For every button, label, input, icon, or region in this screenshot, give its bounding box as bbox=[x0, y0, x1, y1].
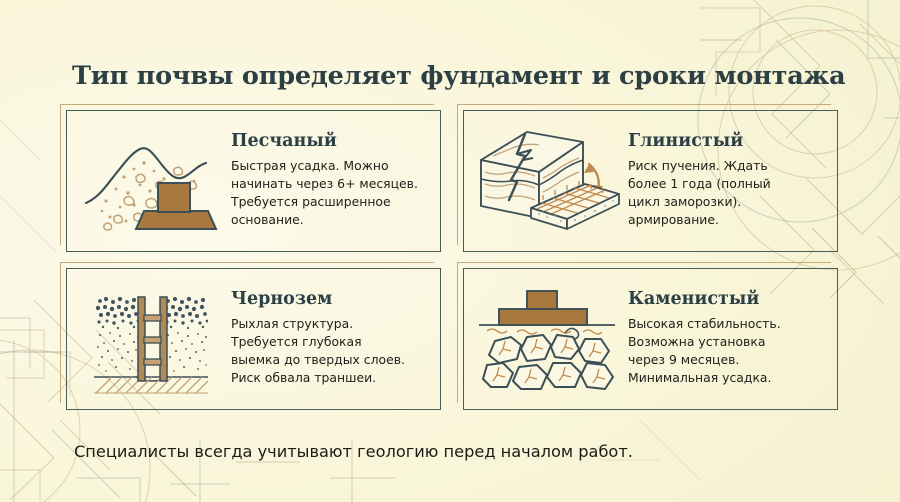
soil-card-clay-body: Риск пучения. Ждать более 1 года (полный… bbox=[628, 157, 825, 230]
clay-block-reinforced-slab-icon bbox=[472, 119, 624, 243]
soil-card-chernozem-heading: Чернозем bbox=[231, 290, 428, 309]
soil-layers-ladder-trench-icon bbox=[75, 277, 227, 401]
soil-type-card-grid: Песчаный Быстрая усадка. Можно начинать … bbox=[66, 110, 838, 410]
boulders-foundation-icon bbox=[472, 277, 624, 401]
infographic-poster: Тип почвы определяет фундамент и сроки м… bbox=[0, 0, 900, 502]
soil-card-clay-heading: Глинистый bbox=[628, 132, 825, 151]
soil-card-rocky-text: Каменистый Высокая стабильность. Возможн… bbox=[624, 290, 831, 387]
soil-card-sandy-body: Быстрая усадка. Можно начинать через 6+ … bbox=[231, 157, 428, 230]
page-title: Тип почвы определяет фундамент и сроки м… bbox=[72, 61, 852, 91]
soil-card-chernozem-body: Рыхлая структура. Требуется глубокая вые… bbox=[231, 315, 428, 388]
soil-card-chernozem-text: Чернозем Рыхлая структура. Требуется глу… bbox=[227, 290, 434, 387]
soil-card-rocky-body: Высокая стабильность. Возможна установка… bbox=[628, 315, 825, 388]
soil-card-sandy[interactable]: Песчаный Быстрая усадка. Можно начинать … bbox=[66, 110, 441, 252]
soil-card-rocky[interactable]: Каменистый Высокая стабильность. Возможн… bbox=[463, 268, 838, 410]
soil-card-clay[interactable]: Глинистый Риск пучения. Ждать более 1 го… bbox=[463, 110, 838, 252]
soil-card-sandy-heading: Песчаный bbox=[231, 132, 428, 151]
soil-card-clay-text: Глинистый Риск пучения. Ждать более 1 го… bbox=[624, 132, 831, 229]
soil-card-chernozem[interactable]: Чернозем Рыхлая структура. Требуется глу… bbox=[66, 268, 441, 410]
soil-card-rocky-heading: Каменистый bbox=[628, 290, 825, 309]
sand-mound-foundation-icon bbox=[75, 119, 227, 243]
footer-note: Специалисты всегда учитывают геологию пе… bbox=[74, 442, 633, 461]
soil-card-sandy-text: Песчаный Быстрая усадка. Можно начинать … bbox=[227, 132, 434, 229]
